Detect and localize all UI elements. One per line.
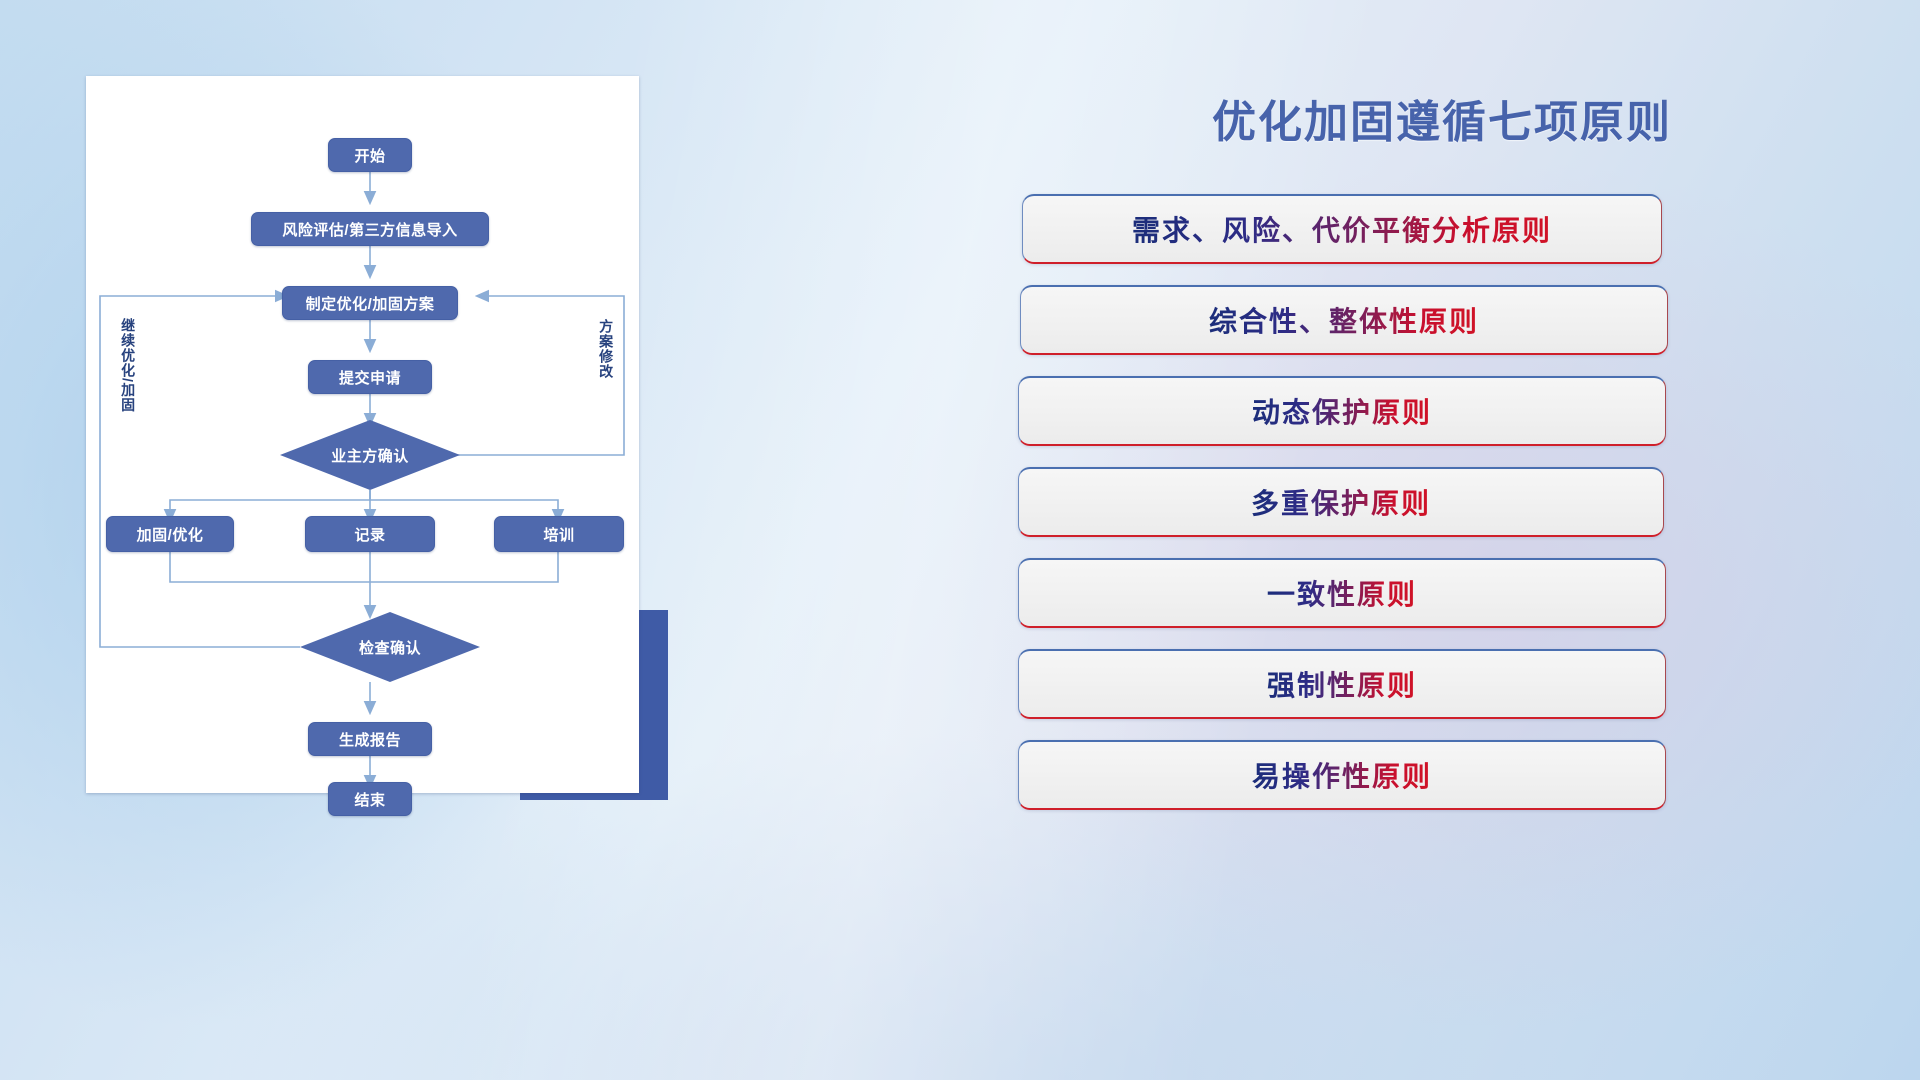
flow-node-label: 开始 [354, 145, 385, 166]
flow-node-reinforce[interactable]: 加固/优化 [106, 516, 234, 552]
flow-node-record[interactable]: 记录 [305, 516, 435, 552]
principle-item[interactable]: 综合性、整体性原则 [1020, 285, 1668, 355]
principle-item[interactable]: 动态保护原则 [1018, 376, 1666, 446]
principles-panel: 优化加固遵循七项原则 需求、风险、代价平衡分析原则 综合性、整体性原则 动态保护… [1020, 86, 1840, 1016]
flow-node-check-confirm[interactable]: 检查确认 [300, 612, 480, 682]
principles-list: 需求、风险、代价平衡分析原则 综合性、整体性原则 动态保护原则 多重保护原则 一… [1020, 194, 1840, 810]
flow-node-label: 记录 [354, 524, 385, 545]
flow-node-label: 结束 [354, 789, 385, 810]
flow-node-risk-assessment[interactable]: 风险评估/第三方信息导入 [251, 212, 489, 246]
flow-edge-label-continue-optimize: 继续优化/加固 [120, 318, 135, 413]
principles-title: 优化加固遵循七项原则 [1020, 86, 1840, 150]
principle-label: 一致性原则 [1267, 573, 1417, 613]
flow-node-plan[interactable]: 制定优化/加固方案 [282, 286, 458, 320]
principle-item[interactable]: 多重保护原则 [1018, 467, 1664, 537]
principle-label: 易操作性原则 [1252, 755, 1432, 795]
principle-item[interactable]: 易操作性原则 [1018, 740, 1666, 810]
flow-node-label: 风险评估/第三方信息导入 [282, 219, 457, 240]
flow-node-label: 培训 [543, 524, 574, 545]
flow-node-label: 检查确认 [359, 637, 421, 658]
flow-node-label: 生成报告 [339, 729, 401, 750]
flow-node-submit-application[interactable]: 提交申请 [308, 360, 432, 394]
principle-label: 动态保护原则 [1252, 391, 1432, 431]
flow-node-start[interactable]: 开始 [328, 138, 412, 172]
flow-edge-label-plan-revision: 方案修改 [598, 319, 613, 379]
principle-item[interactable]: 需求、风险、代价平衡分析原则 [1022, 194, 1662, 264]
principle-label: 需求、风险、代价平衡分析原则 [1132, 209, 1552, 249]
flow-node-training[interactable]: 培训 [494, 516, 624, 552]
principle-item[interactable]: 强制性原则 [1018, 649, 1666, 719]
flow-node-end[interactable]: 结束 [328, 782, 412, 816]
flow-node-label: 制定优化/加固方案 [306, 293, 435, 314]
flow-node-label: 加固/优化 [137, 524, 204, 545]
flow-node-generate-report[interactable]: 生成报告 [308, 722, 432, 756]
flow-node-label: 业主方确认 [331, 445, 409, 466]
principle-label: 多重保护原则 [1251, 482, 1431, 522]
flow-node-owner-confirm[interactable]: 业主方确认 [280, 420, 460, 490]
principle-item[interactable]: 一致性原则 [1018, 558, 1666, 628]
principle-label: 综合性、整体性原则 [1209, 300, 1479, 340]
principle-label: 强制性原则 [1267, 664, 1417, 704]
flowchart-panel: 开始 风险评估/第三方信息导入 制定优化/加固方案 提交申请 业主方确认 加固/… [86, 76, 656, 806]
flow-node-label: 提交申请 [339, 367, 401, 388]
